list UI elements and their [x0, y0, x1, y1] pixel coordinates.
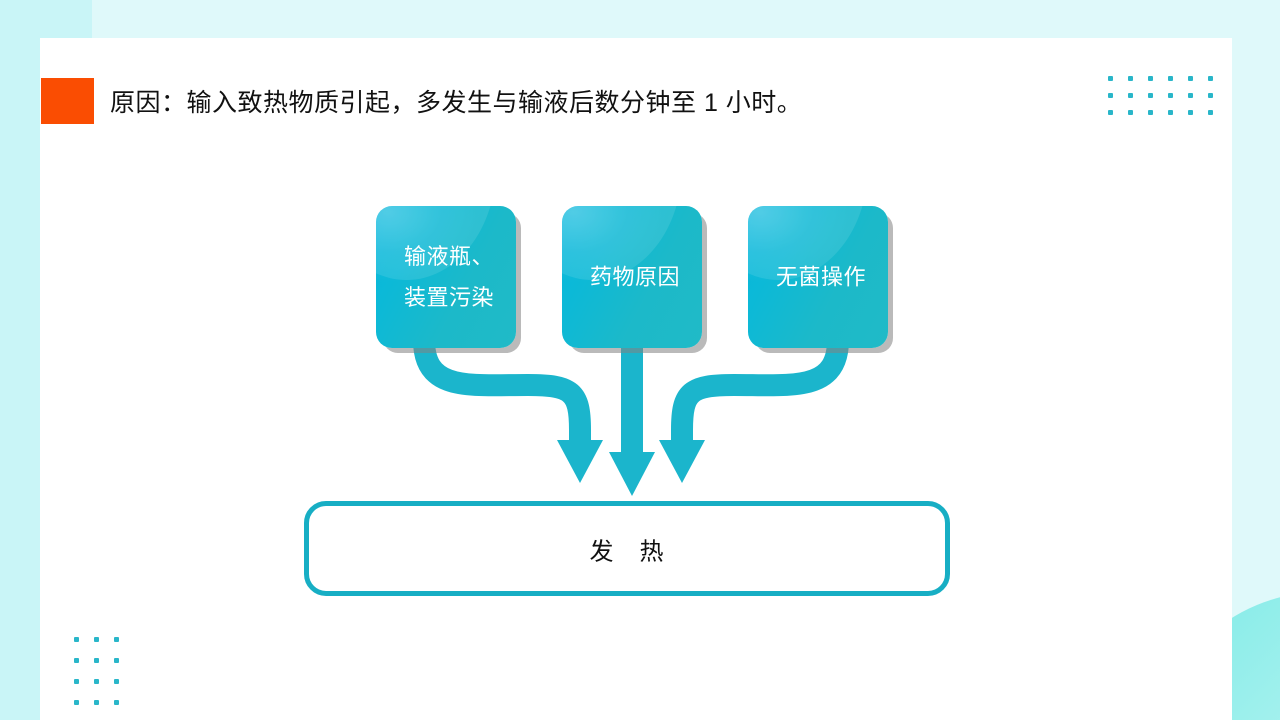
- decor-dot: [114, 679, 119, 684]
- decor-dot: [74, 637, 79, 642]
- decor-dot: [74, 679, 79, 684]
- decor-dot: [74, 700, 79, 705]
- decor-dot: [94, 658, 99, 663]
- decor-dot: [1188, 93, 1193, 98]
- decor-dot: [1208, 76, 1213, 81]
- decor-dot: [74, 658, 79, 663]
- cause-box-1[interactable]: 输液瓶、装置污染: [376, 206, 516, 348]
- page-title: 原因：输入致热物质引起，多发生与输液后数分钟至 1 小时。: [110, 85, 1060, 121]
- decor-dot: [1208, 110, 1213, 115]
- cause-box-2-label: 药物原因: [590, 257, 686, 298]
- decor-dot: [1188, 76, 1193, 81]
- cause-box-2[interactable]: 药物原因: [562, 206, 702, 348]
- decor-dot: [1128, 76, 1133, 81]
- decor-dot: [1108, 93, 1113, 98]
- decor-dot: [94, 700, 99, 705]
- cause-box-1-label: 输液瓶、装置污染: [404, 236, 500, 318]
- decor-dot: [114, 637, 119, 642]
- decor-dot: [114, 658, 119, 663]
- decor-dot: [1168, 93, 1173, 98]
- decor-dot: [1208, 93, 1213, 98]
- decor-dot-grid-bottom-left: [74, 637, 134, 720]
- decor-dot: [94, 637, 99, 642]
- cause-box-3[interactable]: 无菌操作: [748, 206, 888, 348]
- decor-dot: [1168, 110, 1173, 115]
- accent-square-marker: [41, 78, 94, 124]
- decor-dot: [1148, 110, 1153, 115]
- decor-dot: [1128, 93, 1133, 98]
- result-box-label: 发 热: [309, 531, 945, 566]
- decor-dot: [1108, 76, 1113, 81]
- decor-dot-grid-top-right: [1108, 76, 1228, 127]
- slide-canvas: 原因：输入致热物质引起，多发生与输液后数分钟至 1 小时。: [0, 0, 1280, 720]
- cause-box-3-label: 无菌操作: [776, 257, 872, 298]
- result-box[interactable]: 发 热: [304, 501, 950, 596]
- decor-dot: [1128, 110, 1133, 115]
- decor-dot: [94, 679, 99, 684]
- decor-dot: [1148, 76, 1153, 81]
- decor-dot: [1108, 110, 1113, 115]
- decor-dot: [114, 700, 119, 705]
- decor-dot: [1148, 93, 1153, 98]
- decor-dot: [1188, 110, 1193, 115]
- slide-white-card: [40, 38, 1232, 720]
- decor-dot: [1168, 76, 1173, 81]
